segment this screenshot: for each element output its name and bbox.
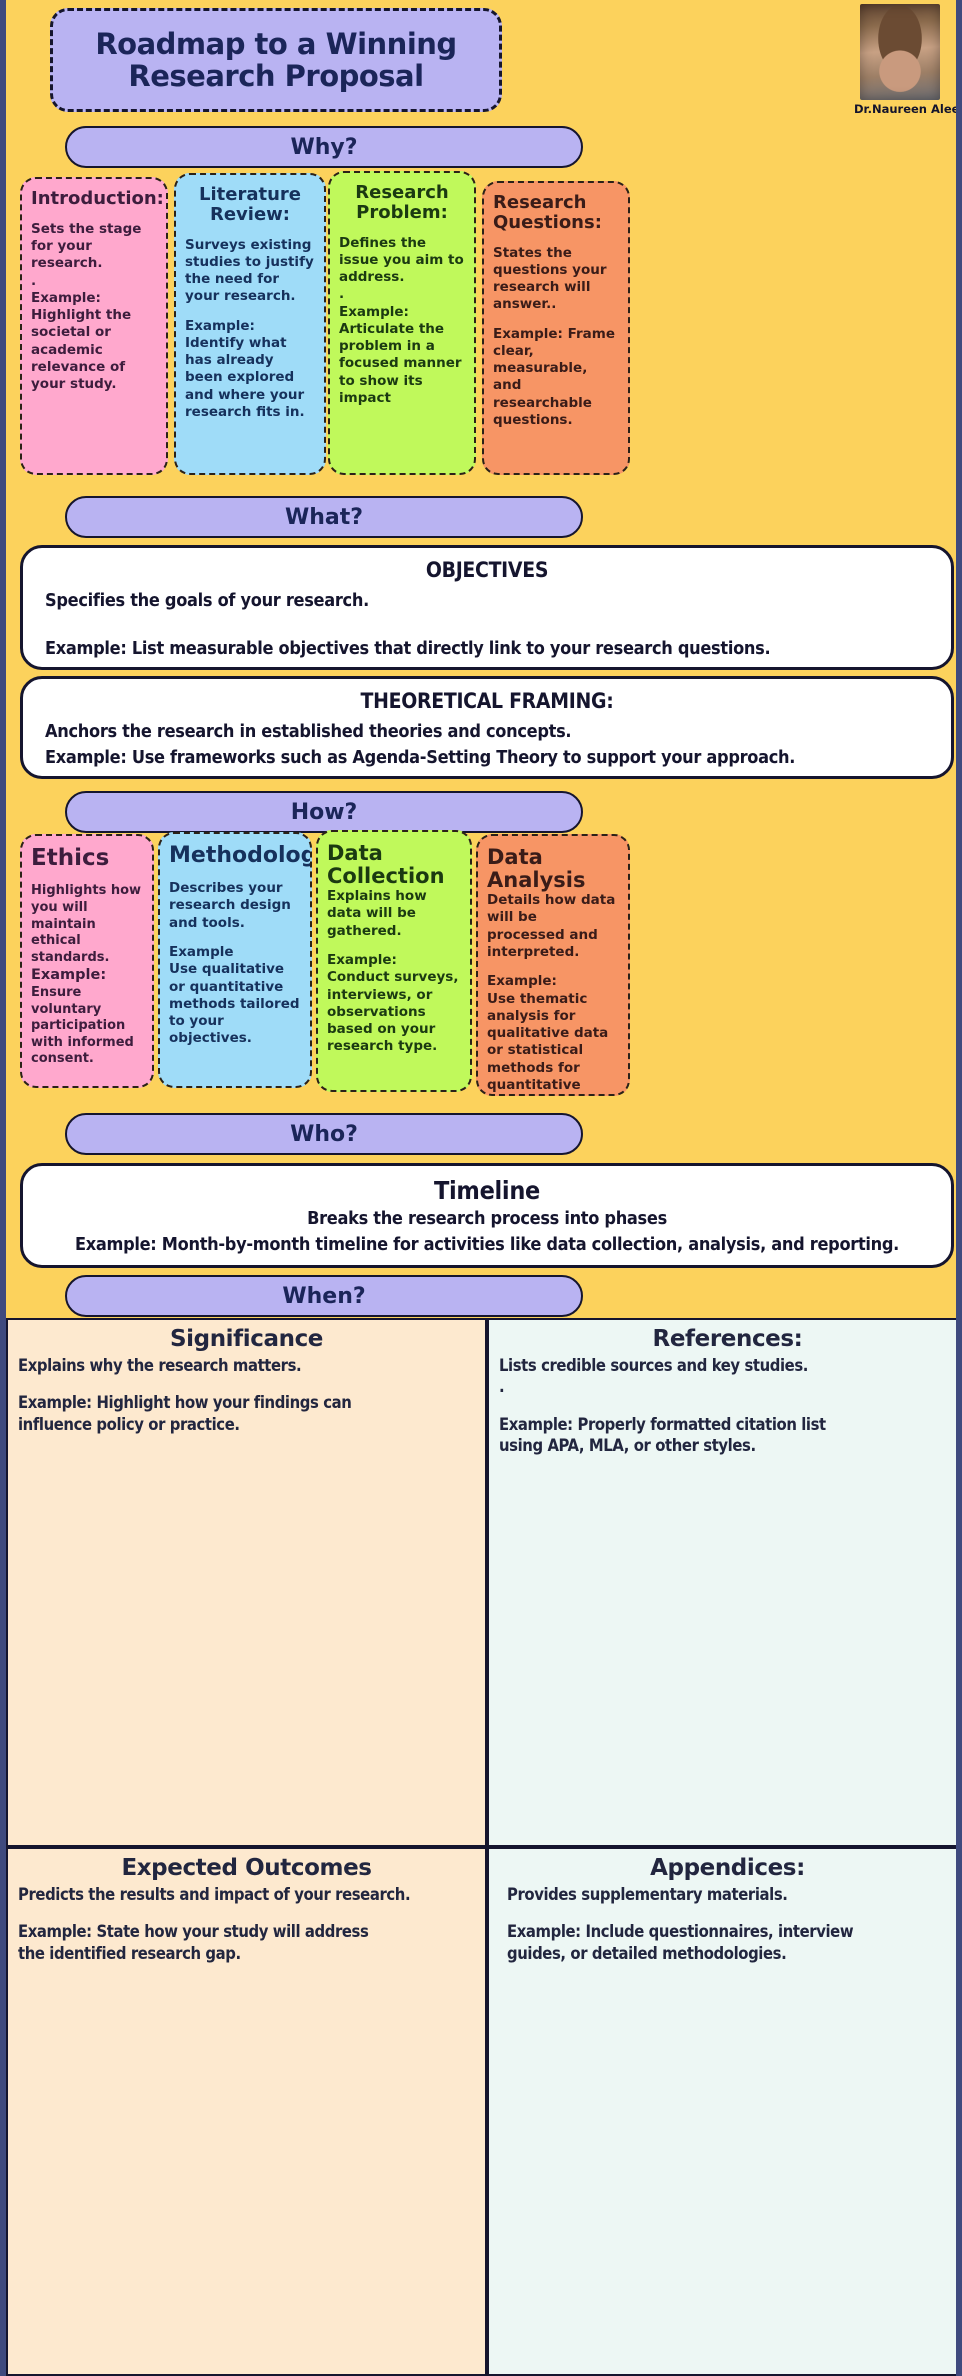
card-example: Example: Highlight the societal or acade… <box>31 290 157 394</box>
grid-cell-appendices: Appendices: Provides supplementary mater… <box>487 1847 962 2376</box>
panel-example: Example: List measurable objectives that… <box>45 636 929 662</box>
why-card-introduction: Introduction: Sets the stage for your re… <box>20 177 168 475</box>
card-body: Explains how data will be gathered. <box>327 888 461 940</box>
card-example-label: Example <box>169 944 301 961</box>
card-example-label: Example: <box>31 966 143 985</box>
why-card-research-problem: Research Problem: Defines the issue you … <box>328 171 476 475</box>
cell-example-line-1: Example: Properly formatted citation lis… <box>499 1414 956 1435</box>
spacer <box>169 868 301 880</box>
section-band-how[interactable]: How? <box>65 791 583 833</box>
section-band-when-label: When? <box>282 1284 365 1309</box>
section-band-who[interactable]: Who? <box>65 1113 583 1155</box>
panel-title: THEORETICAL FRAMING: <box>45 689 929 713</box>
cell-example-line-2: the identified research gap. <box>18 1943 475 1964</box>
section-band-why[interactable]: Why? <box>65 126 583 168</box>
poster-header: Roadmap to a Winning Research Proposal D… <box>6 0 956 126</box>
section-band-how-label: How? <box>291 800 358 825</box>
avatar <box>860 4 940 100</box>
grid-cell-significance: Significance Explains why the research m… <box>6 1318 487 1847</box>
card-body: Surveys existing studies to justify the … <box>185 237 315 306</box>
spacer <box>493 314 619 326</box>
cell-example-line-1: Example: Include questionnaires, intervi… <box>499 1921 956 1942</box>
panel-body: Breaks the research process into phases <box>45 1206 929 1232</box>
why-card-literature-review: Literature Review: Surveys existing stud… <box>174 173 326 475</box>
card-title: Methodology <box>169 844 301 868</box>
card-example: Use thematic analysis for qualitative da… <box>487 991 619 1096</box>
panel-example: Example: Month-by-month timeline for act… <box>45 1232 929 1258</box>
section-band-who-label: Who? <box>290 1122 358 1147</box>
card-example: Ensure voluntary participation with info… <box>31 985 143 1068</box>
card-body: Defines the issue you aim to address. <box>339 235 465 287</box>
cell-title: Expected Outcomes <box>18 1855 475 1881</box>
card-example-label: Example: <box>487 973 619 990</box>
panel-title: Timeline <box>45 1176 929 1205</box>
panel-body: Anchors the research in established theo… <box>45 719 929 745</box>
bottom-grid: Significance Explains why the research m… <box>6 1318 962 2376</box>
cell-body: Predicts the results and impact of your … <box>18 1884 475 1905</box>
card-example: Example: Identify what has already been … <box>185 318 315 422</box>
how-card-methodology: Methodology Describes your research desi… <box>158 832 312 1088</box>
card-body: States the questions your research will … <box>493 245 619 314</box>
card-title: Literature Review: <box>185 185 315 225</box>
cell-title: Significance <box>18 1326 475 1352</box>
spacer <box>45 614 929 636</box>
spacer <box>31 209 157 221</box>
how-card-ethics: Ethics Highlights how you will maintain … <box>20 834 154 1088</box>
grid-cell-expected-outcomes: Expected Outcomes Predicts the results a… <box>6 1847 487 2376</box>
title-line-2: Research Proposal <box>95 60 456 92</box>
how-card-data-collection: Data Collection Explains how data will b… <box>316 830 472 1092</box>
poster-title-box: Roadmap to a Winning Research Proposal <box>50 8 502 112</box>
cell-example-line-2: using APA, MLA, or other styles. <box>499 1435 956 1456</box>
cell-example-line-2: guides, or detailed methodologies. <box>499 1943 956 1964</box>
cell-body: Provides supplementary materials. <box>499 1884 956 1905</box>
grid-cell-references: References: Lists credible sources and k… <box>487 1318 962 1847</box>
title-line-1: Roadmap to a Winning <box>95 28 456 60</box>
section-band-what[interactable]: What? <box>65 496 583 538</box>
card-title: Research Problem: <box>339 183 465 223</box>
how-card-data-analysis: Data Analysis Details how data will be p… <box>476 834 630 1096</box>
card-example: Example: Articulate the problem in a foc… <box>339 304 465 408</box>
card-title: Data Analysis <box>487 846 619 892</box>
card-dot: . <box>339 286 465 303</box>
cell-example-line-1: Example: State how your study will addre… <box>18 1921 475 1942</box>
section-band-why-label: Why? <box>290 135 357 160</box>
cell-body: Explains why the research matters. <box>18 1355 475 1376</box>
card-title: Introduction: <box>31 189 157 209</box>
panel-title: OBJECTIVES <box>45 558 929 582</box>
card-body: Details how data will be processed and i… <box>487 892 619 961</box>
card-dot: . <box>31 273 157 290</box>
spacer <box>499 1398 956 1414</box>
section-band-when[interactable]: When? <box>65 1275 583 1317</box>
infographic-poster: Roadmap to a Winning Research Proposal D… <box>0 0 962 2376</box>
card-title: Ethics <box>31 846 143 871</box>
panel-theoretical-framing: THEORETICAL FRAMING: Anchors the researc… <box>20 676 954 779</box>
card-body: Describes your research design and tools… <box>169 880 301 932</box>
card-title: Research Questions: <box>493 193 619 233</box>
spacer <box>18 1905 475 1921</box>
section-band-what-label: What? <box>285 505 363 530</box>
card-example: Use qualitative or quantitative methods … <box>169 961 301 1047</box>
spacer <box>487 961 619 973</box>
cell-example-line-2: influence policy or practice. <box>18 1414 475 1435</box>
spacer <box>327 940 461 952</box>
cell-title: Appendices: <box>499 1855 956 1881</box>
author-block: Dr.Naureen Aleem <box>854 4 946 116</box>
card-example-label: Example: <box>327 952 461 969</box>
card-body: Sets the stage for your research. <box>31 221 157 273</box>
panel-example: Example: Use frameworks such as Agenda-S… <box>45 745 929 771</box>
spacer <box>493 233 619 245</box>
panel-timeline: Timeline Breaks the research process int… <box>20 1163 954 1268</box>
spacer <box>185 306 315 318</box>
spacer <box>169 932 301 944</box>
cell-example-line-1: Example: Highlight how your findings can <box>18 1392 475 1413</box>
cell-body: Lists credible sources and key studies. <box>499 1355 956 1376</box>
card-example: Example: Frame clear, measurable, and re… <box>493 326 619 430</box>
card-example: Conduct surveys, interviews, or observat… <box>327 969 461 1055</box>
spacer <box>31 871 143 883</box>
why-card-research-questions: Research Questions: States the questions… <box>482 181 630 475</box>
cell-dot: . <box>499 1376 956 1397</box>
card-body: Highlights how you will maintain ethical… <box>31 883 143 966</box>
spacer <box>18 1376 475 1392</box>
spacer <box>339 223 465 235</box>
cell-title: References: <box>499 1326 956 1352</box>
spacer <box>185 225 315 237</box>
panel-body: Specifies the goals of your research. <box>45 588 929 614</box>
card-title: Data Collection <box>327 842 461 888</box>
page-title: Roadmap to a Winning Research Proposal <box>95 28 456 93</box>
author-name: Dr.Naureen Aleem <box>854 102 946 116</box>
spacer <box>499 1905 956 1921</box>
panel-objectives: OBJECTIVES Specifies the goals of your r… <box>20 545 954 670</box>
